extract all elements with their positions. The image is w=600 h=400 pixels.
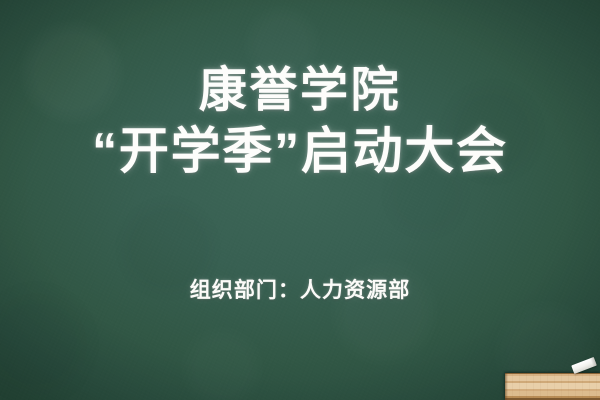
slide-title: 康誉学院 “开学季”启动大会 (0, 62, 600, 182)
slide-subtitle: 组织部门：人力资源部 (0, 274, 600, 304)
title-line-1: 康誉学院 (0, 62, 600, 120)
title-line-2: “开学季”启动大会 (0, 120, 600, 182)
slide-canvas: 康誉学院 “开学季”启动大会 组织部门：人力资源部 (0, 0, 600, 400)
chalk-ledge (505, 373, 600, 400)
chalk-ledge-left-cap (505, 373, 508, 400)
chalk-ledge-grain (505, 373, 600, 400)
slide-content: 康誉学院 “开学季”启动大会 组织部门：人力资源部 (0, 0, 600, 400)
